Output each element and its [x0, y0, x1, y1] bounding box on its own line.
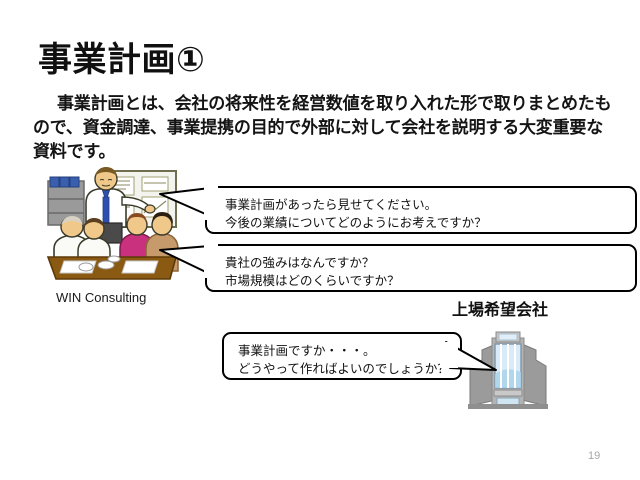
bubble-1-text: 事業計画があったら見せてください。 今後の業績についてどのようにお考えですか？	[225, 196, 487, 232]
page-number: 19	[588, 450, 600, 462]
speech-bubble-consultant-1: 事業計画があったら見せてください。 今後の業績についてどのようにお考えですか？	[205, 186, 637, 234]
building-caption: 上場希望会社	[452, 296, 548, 320]
bubble-2-text: 貴社の強みはなんですか？ 市場規模はどのくらいですか？	[225, 254, 400, 290]
body-paragraph: 事業計画とは、会社の将来性を経営数値を取り入れた形で取りまとめたもので、資金調達…	[33, 92, 613, 164]
bubble-2-line-2: 市場規模はどのくらいですか？	[225, 272, 400, 290]
presentation-slide: 事業計画① 事業計画とは、会社の将来性を経営数値を取り入れた形で取りまとめたもの…	[0, 0, 640, 480]
bubble-1-line-1: 事業計画があったら見せてください。	[225, 196, 487, 214]
speech-bubble-2-tail	[160, 244, 216, 280]
meeting-caption: WIN Consulting	[56, 290, 146, 305]
speech-bubble-1-tail	[160, 186, 216, 222]
bubble-3-line-2: どうやって作ればよいのでしょうか？	[238, 360, 450, 378]
speech-bubble-company-1: 事業計画ですか・・・。 どうやって作ればよいのでしょうか？	[222, 332, 462, 380]
page-title: 事業計画①	[38, 32, 205, 81]
bubble-1-line-2: 今後の業績についてどのようにお考えですか？	[225, 214, 487, 232]
bubble-3-text: 事業計画ですか・・・。 どうやって作ればよいのでしょうか？	[238, 342, 450, 378]
bubble-2-line-1: 貴社の強みはなんですか？	[225, 254, 400, 272]
speech-bubble-3-tail	[440, 342, 500, 384]
speech-bubble-consultant-2: 貴社の強みはなんですか？ 市場規模はどのくらいですか？	[205, 244, 637, 292]
bubble-3-line-1: 事業計画ですか・・・。	[238, 342, 450, 360]
